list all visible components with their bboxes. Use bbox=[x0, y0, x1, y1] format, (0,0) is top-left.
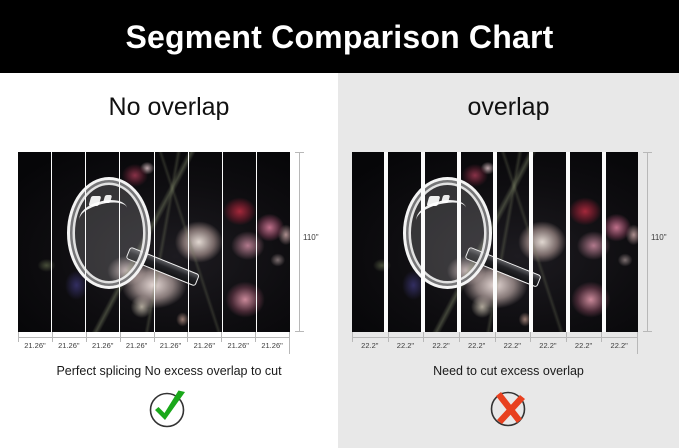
width-dimension-label: 21.26" bbox=[187, 332, 221, 354]
width-dimension-label: 22.2" bbox=[601, 332, 638, 354]
width-dimension-label: 22.2" bbox=[530, 332, 566, 354]
caption-overlap: Need to cut excess overlap bbox=[338, 364, 679, 378]
width-dimension-label: 22.2" bbox=[352, 332, 388, 354]
mural-overlap bbox=[352, 152, 638, 332]
floral-artwork bbox=[352, 152, 638, 332]
check-icon bbox=[147, 389, 191, 429]
width-dimension-label: 21.26" bbox=[255, 332, 290, 354]
caption-no-overlap: Perfect splicing No excess overlap to cu… bbox=[0, 364, 338, 378]
mural-no-overlap bbox=[18, 152, 290, 332]
width-dimension-row: 22.2" 22.2" 22.2" 22.2" 22.2" 22.2" 22.2… bbox=[352, 332, 638, 354]
height-dimension-line bbox=[647, 152, 648, 332]
width-dimension-label: 21.26" bbox=[154, 332, 188, 354]
width-dimension-label: 21.26" bbox=[120, 332, 154, 354]
floral-artwork bbox=[18, 152, 290, 332]
width-dimension-label: 22.2" bbox=[388, 332, 424, 354]
stem-overlay bbox=[352, 152, 638, 332]
width-dimension-label: 21.26" bbox=[86, 332, 120, 354]
stem-overlay bbox=[18, 152, 290, 332]
width-dimension-row: 21.26" 21.26" 21.26" 21.26" 21.26" 21.26… bbox=[18, 332, 290, 354]
width-dimension-label: 22.2" bbox=[495, 332, 531, 354]
width-dimension-label: 22.2" bbox=[566, 332, 602, 354]
width-dimension-label: 21.26" bbox=[221, 332, 255, 354]
verdict-overlap bbox=[338, 389, 679, 429]
panel-overlap: overlap bbox=[338, 73, 679, 448]
height-dimension-label: 110" bbox=[303, 233, 319, 242]
height-dimension-label: 110" bbox=[651, 233, 667, 242]
width-dimension-label: 22.2" bbox=[423, 332, 459, 354]
title-banner: Segment Comparison Chart bbox=[0, 0, 679, 73]
comparison-panels: No overlap bbox=[0, 73, 679, 448]
cross-icon bbox=[487, 389, 531, 429]
width-dimension-label: 22.2" bbox=[459, 332, 495, 354]
page-title: Segment Comparison Chart bbox=[126, 21, 554, 53]
width-dimension-label: 21.26" bbox=[18, 332, 52, 354]
panel-no-overlap: No overlap bbox=[0, 73, 338, 448]
panel-heading-overlap: overlap bbox=[338, 95, 679, 120]
panel-heading-no-overlap: No overlap bbox=[0, 95, 338, 120]
verdict-no-overlap bbox=[0, 389, 338, 429]
height-dimension-line bbox=[299, 152, 300, 332]
width-dimension-label: 21.26" bbox=[52, 332, 86, 354]
